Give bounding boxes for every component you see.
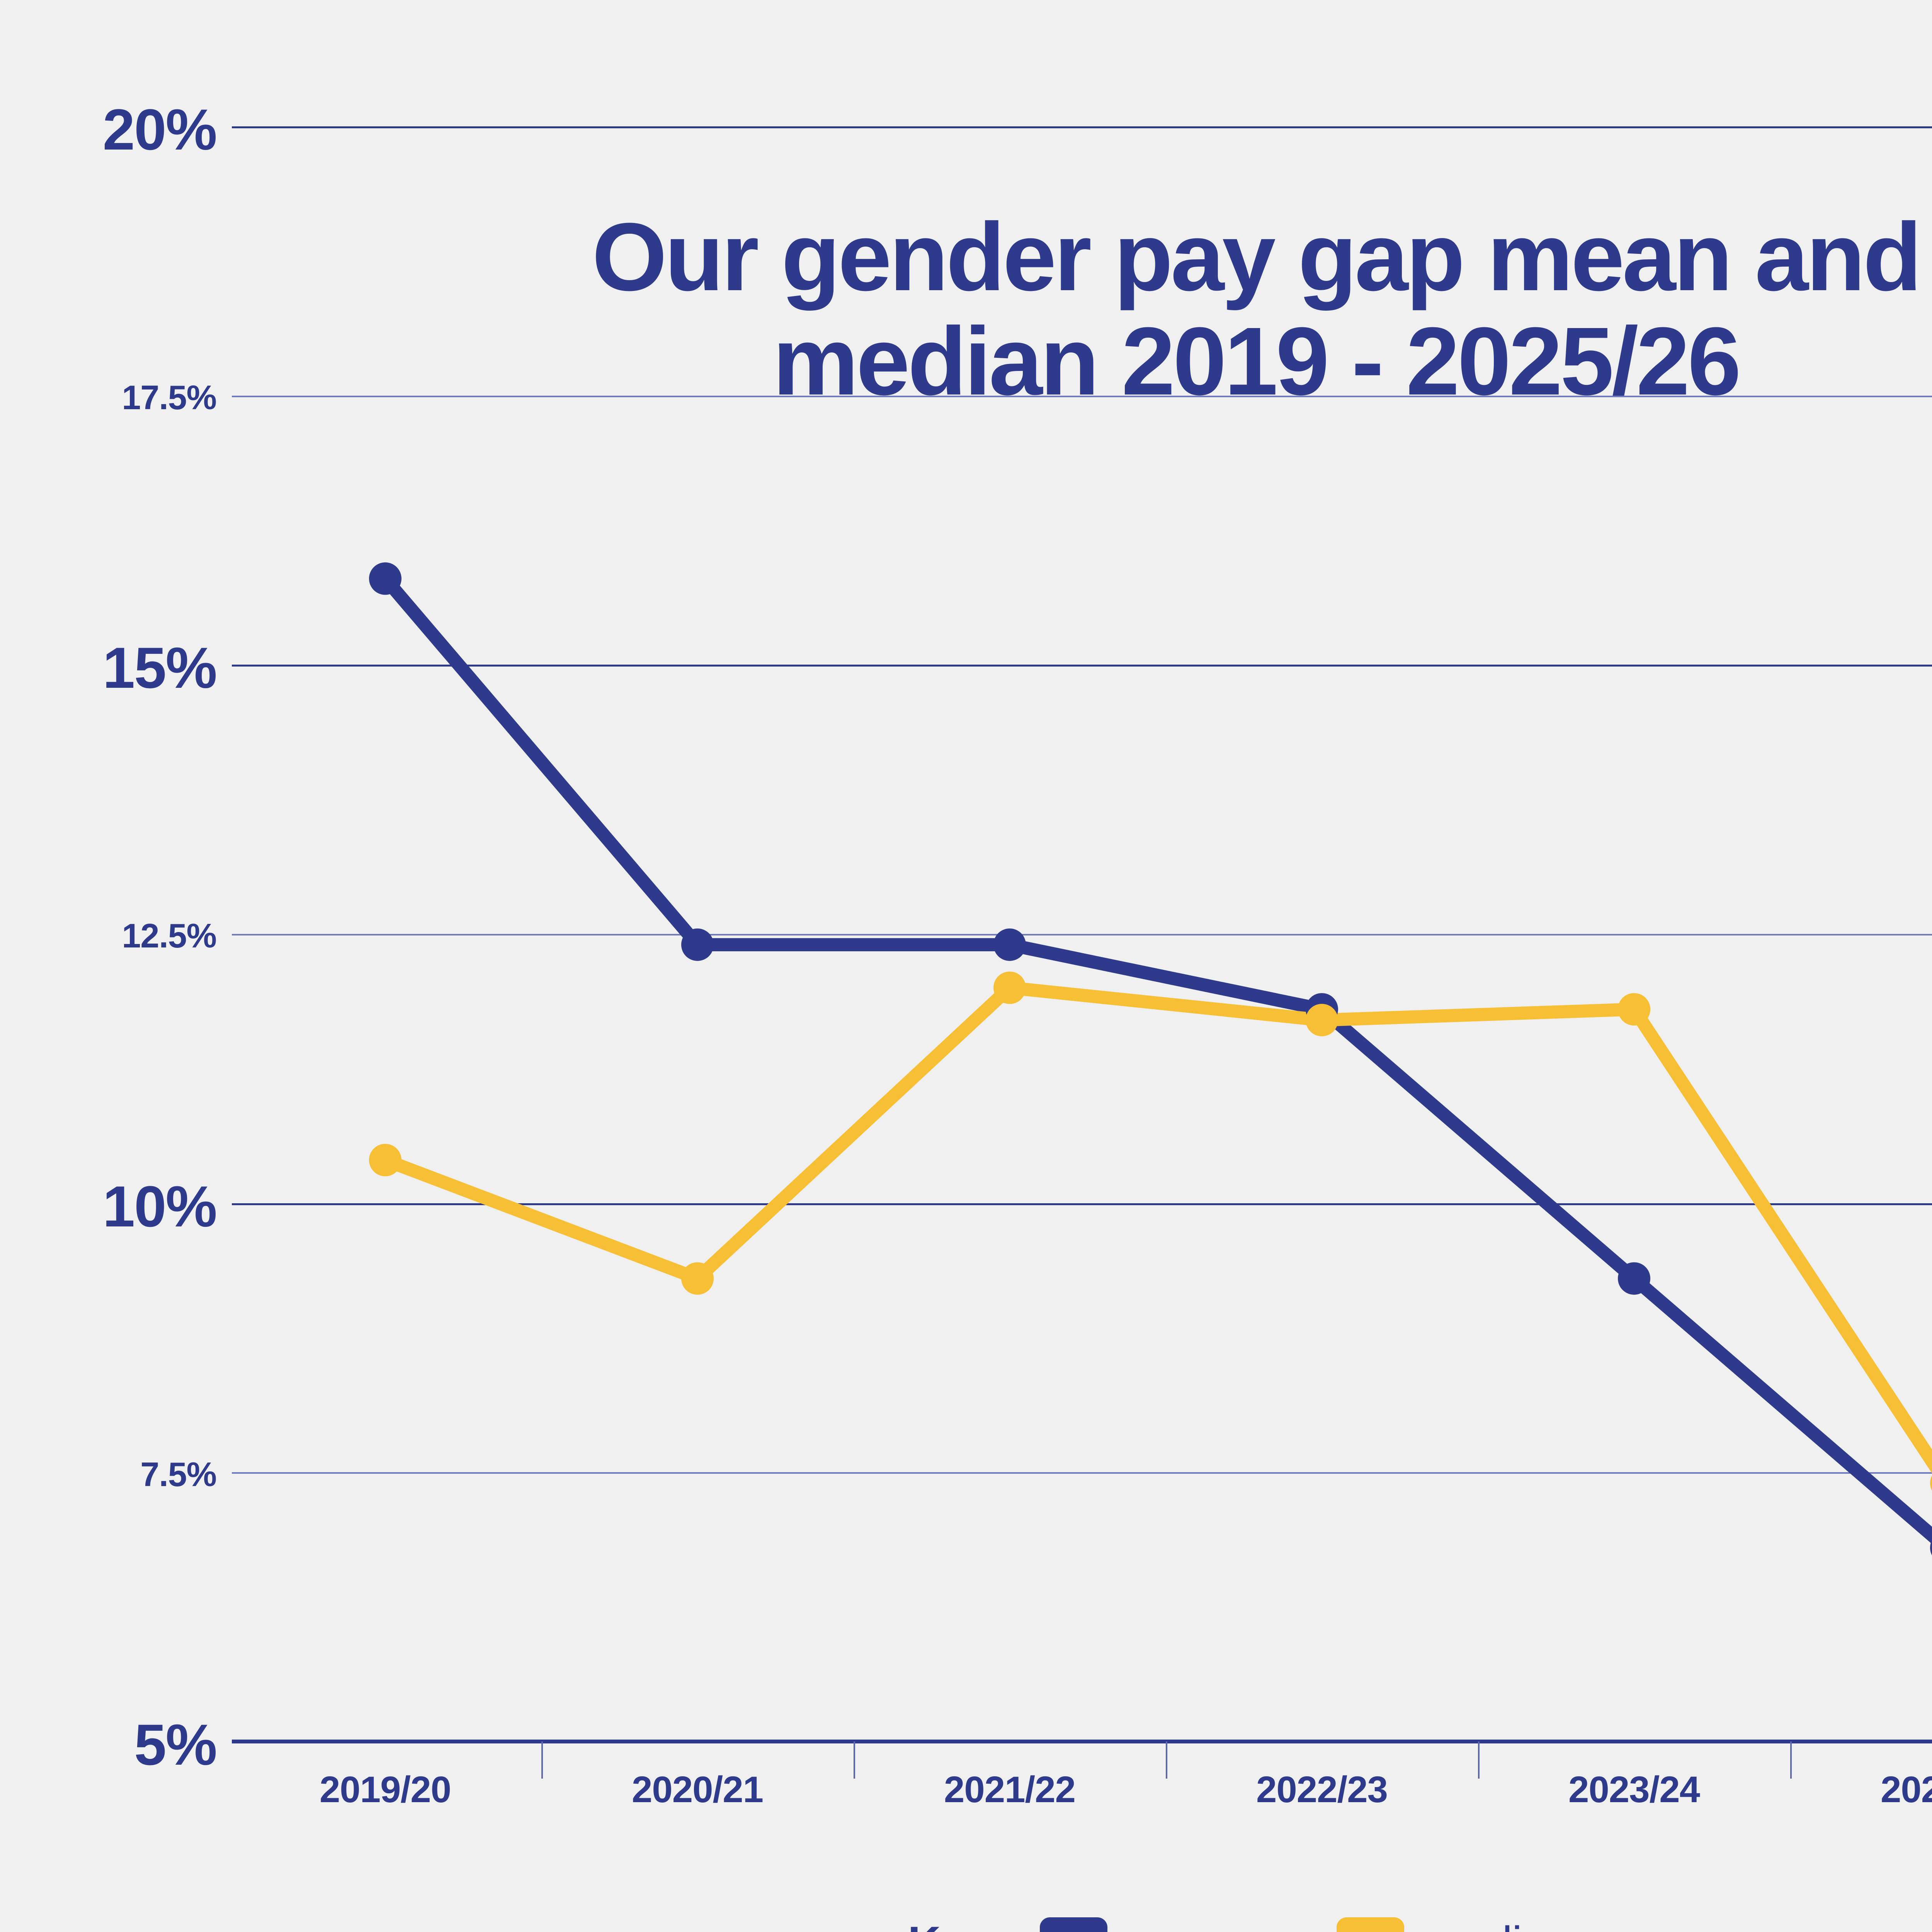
x-axis-label-2022-23: 2022/23: [1256, 1769, 1388, 1811]
y-axis-label: 7.5%: [0, 1455, 232, 1494]
plot-area: [232, 126, 1932, 1742]
chart-legend: Key: mean median: [0, 1917, 1932, 1932]
x-axis-tick: [541, 1742, 543, 1779]
legend-swatch-median: [1337, 1917, 1404, 1932]
gridline-15: [232, 665, 1932, 667]
gridline-20: [232, 126, 1932, 128]
legend-swatch-mean: [1040, 1917, 1107, 1932]
y-axis-label: 12.5%: [0, 916, 232, 956]
gridline-10: [232, 1203, 1932, 1205]
y-axis-label: 17.5%: [0, 378, 232, 417]
y-axis-label: 10%: [0, 1173, 232, 1240]
x-axis-label-2019-20: 2019/20: [320, 1769, 451, 1811]
legend-label-mean: mean: [1128, 1917, 1240, 1932]
legend-item-mean[interactable]: mean: [1040, 1917, 1240, 1932]
x-axis-label-2021-22: 2021/22: [944, 1769, 1075, 1811]
x-axis-tick: [1166, 1742, 1167, 1779]
legend-label-median: median: [1424, 1917, 1571, 1932]
gridline-12-5: [232, 934, 1932, 935]
gridline-17-5: [232, 396, 1932, 397]
x-axis-line: [232, 1740, 1932, 1743]
y-axis-label: 5%: [0, 1711, 232, 1778]
x-axis-label-2024-25: 2024/25: [1881, 1769, 1932, 1811]
x-axis-label-2023-24: 2023/24: [1568, 1769, 1700, 1811]
x-axis-tick: [1478, 1742, 1480, 1779]
gridline-7-5: [232, 1472, 1932, 1474]
y-axis-label: 15%: [0, 634, 232, 701]
legend-item-median[interactable]: median: [1337, 1917, 1571, 1932]
x-axis-label-2020-21: 2020/21: [632, 1769, 763, 1811]
legend-key-label: Key:: [908, 1917, 1005, 1932]
x-axis-tick: [854, 1742, 855, 1779]
x-axis-tick: [1790, 1742, 1792, 1779]
y-axis-label: 20%: [0, 96, 232, 163]
chart-canvas: Our gender pay gap mean and median 2019 …: [0, 0, 1932, 1932]
